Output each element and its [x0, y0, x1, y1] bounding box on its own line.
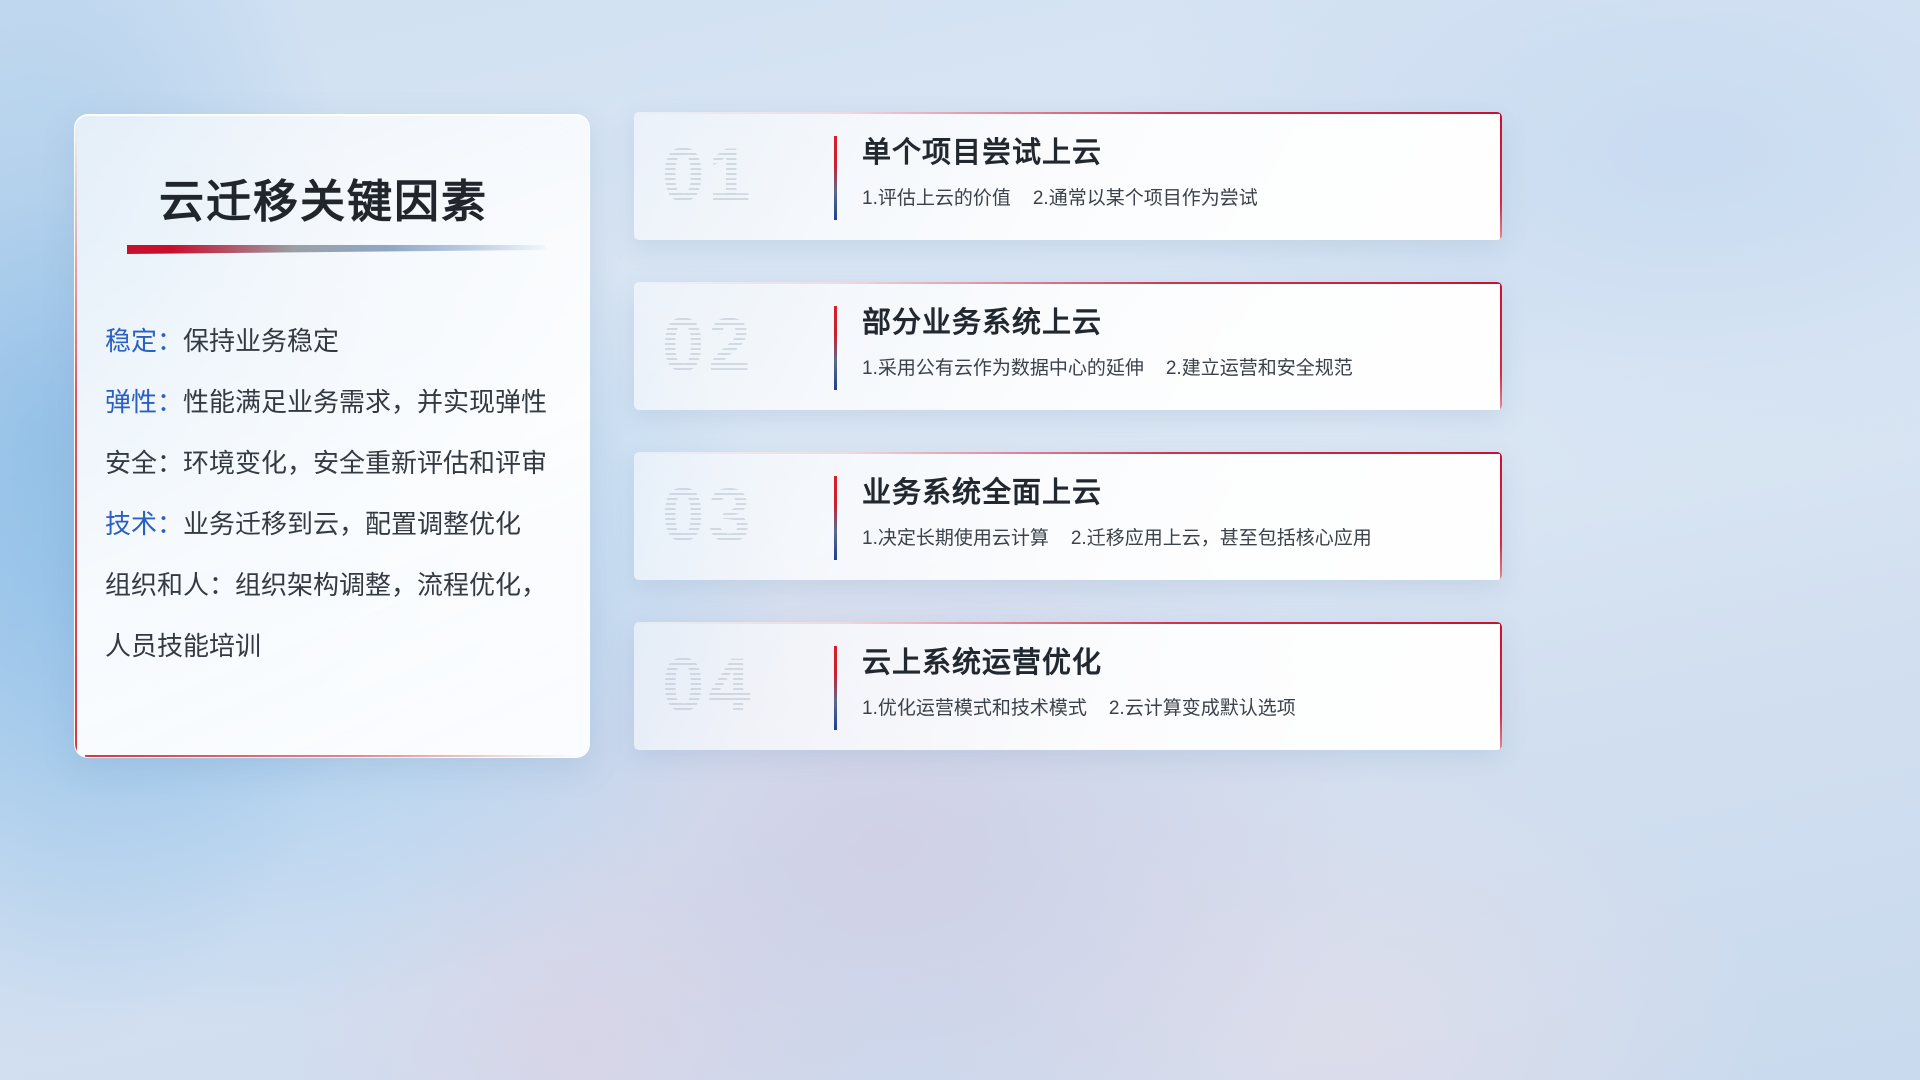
factor-label: 安全： — [105, 448, 183, 478]
card-detail: 1.采用公有云作为数据中心的延伸2.建立运营和安全规范 — [862, 356, 1474, 382]
panel-bottom-accent — [85, 755, 573, 757]
key-factors-panel: 云迁移关键因素 稳定：保持业务稳定 弹性：性能满足业务需求，并实现弹性 安全：环… — [74, 114, 590, 758]
card-detail-item-2: 2.建立运营和安全规范 — [1166, 358, 1353, 379]
card-divider-accent — [834, 476, 837, 560]
card-heading: 业务系统全面上云 — [862, 472, 1474, 514]
card-detail: 1.优化运营模式和技术模式2.云计算变成默认选项 — [862, 696, 1474, 722]
card-body: 单个项目尝试上云 1.评估上云的价值2.通常以某个项目作为尝试 — [862, 132, 1474, 212]
card-heading: 部分业务系统上云 — [862, 302, 1474, 344]
card-heading: 云上系统运营优化 — [862, 642, 1474, 684]
stage-number: 04 — [662, 638, 842, 734]
stage-number: 01 — [662, 128, 842, 224]
card-detail-item-1: 1.决定长期使用云计算 — [862, 528, 1049, 549]
stage-card-04[interactable]: 04 云上系统运营优化 1.优化运营模式和技术模式2.云计算变成默认选项 — [634, 622, 1502, 750]
slide-canvas: 云迁移关键因素 稳定：保持业务稳定 弹性：性能满足业务需求，并实现弹性 安全：环… — [0, 0, 1920, 1080]
card-detail: 1.评估上云的价值2.通常以某个项目作为尝试 — [862, 186, 1474, 212]
list-item: 组织和人：组织架构调整，流程优化， — [105, 555, 571, 616]
card-detail-item-2: 2.云计算变成默认选项 — [1109, 698, 1296, 719]
key-factor-list: 稳定：保持业务稳定 弹性：性能满足业务需求，并实现弹性 安全：环境变化，安全重新… — [105, 311, 571, 677]
factor-label: 组织和人： — [105, 570, 235, 600]
stage-card-01[interactable]: 01 单个项目尝试上云 1.评估上云的价值2.通常以某个项目作为尝试 — [634, 112, 1502, 240]
list-item: 技术：业务迁移到云，配置调整优化 — [105, 494, 571, 555]
card-detail-item-2: 2.通常以某个项目作为尝试 — [1033, 188, 1258, 209]
card-heading: 单个项目尝试上云 — [862, 132, 1474, 174]
factor-label: 稳定： — [105, 326, 183, 356]
factor-text: 人员技能培训 — [105, 631, 261, 661]
factor-text: 保持业务稳定 — [183, 326, 339, 356]
title-underline-accent — [127, 245, 545, 254]
card-detail-item-1: 1.评估上云的价值 — [862, 188, 1011, 209]
factor-label: 弹性： — [105, 387, 183, 417]
list-item: 稳定：保持业务稳定 — [105, 311, 571, 372]
factor-label: 技术： — [105, 509, 183, 539]
stage-card-list: 01 单个项目尝试上云 1.评估上云的价值2.通常以某个项目作为尝试 02 部分… — [634, 112, 1502, 792]
card-body: 云上系统运营优化 1.优化运营模式和技术模式2.云计算变成默认选项 — [862, 642, 1474, 722]
page-title: 云迁移关键因素 — [159, 165, 488, 230]
card-divider-accent — [834, 646, 837, 730]
card-divider-accent — [834, 136, 837, 220]
card-detail-item-1: 1.采用公有云作为数据中心的延伸 — [862, 358, 1144, 379]
card-body: 业务系统全面上云 1.决定长期使用云计算2.迁移应用上云，甚至包括核心应用 — [862, 472, 1474, 552]
card-detail: 1.决定长期使用云计算2.迁移应用上云，甚至包括核心应用 — [862, 526, 1474, 552]
list-item: 安全：环境变化，安全重新评估和评审 — [105, 433, 571, 494]
list-item: 弹性：性能满足业务需求，并实现弹性 — [105, 372, 571, 433]
factor-text: 业务迁移到云，配置调整优化 — [183, 509, 521, 539]
card-divider-accent — [834, 306, 837, 390]
stage-card-02[interactable]: 02 部分业务系统上云 1.采用公有云作为数据中心的延伸2.建立运营和安全规范 — [634, 282, 1502, 410]
stage-card-03[interactable]: 03 业务系统全面上云 1.决定长期使用云计算2.迁移应用上云，甚至包括核心应用 — [634, 452, 1502, 580]
factor-text: 性能满足业务需求，并实现弹性 — [183, 387, 547, 417]
stage-number: 02 — [662, 298, 842, 394]
list-item-continuation: 人员技能培训 — [105, 616, 571, 677]
card-detail-item-1: 1.优化运营模式和技术模式 — [862, 698, 1087, 719]
card-detail-item-2: 2.迁移应用上云，甚至包括核心应用 — [1071, 528, 1372, 549]
factor-text: 组织架构调整，流程优化， — [235, 570, 547, 600]
stage-number: 03 — [662, 468, 842, 564]
card-body: 部分业务系统上云 1.采用公有云作为数据中心的延伸2.建立运营和安全规范 — [862, 302, 1474, 382]
factor-text: 环境变化，安全重新评估和评审 — [183, 448, 547, 478]
